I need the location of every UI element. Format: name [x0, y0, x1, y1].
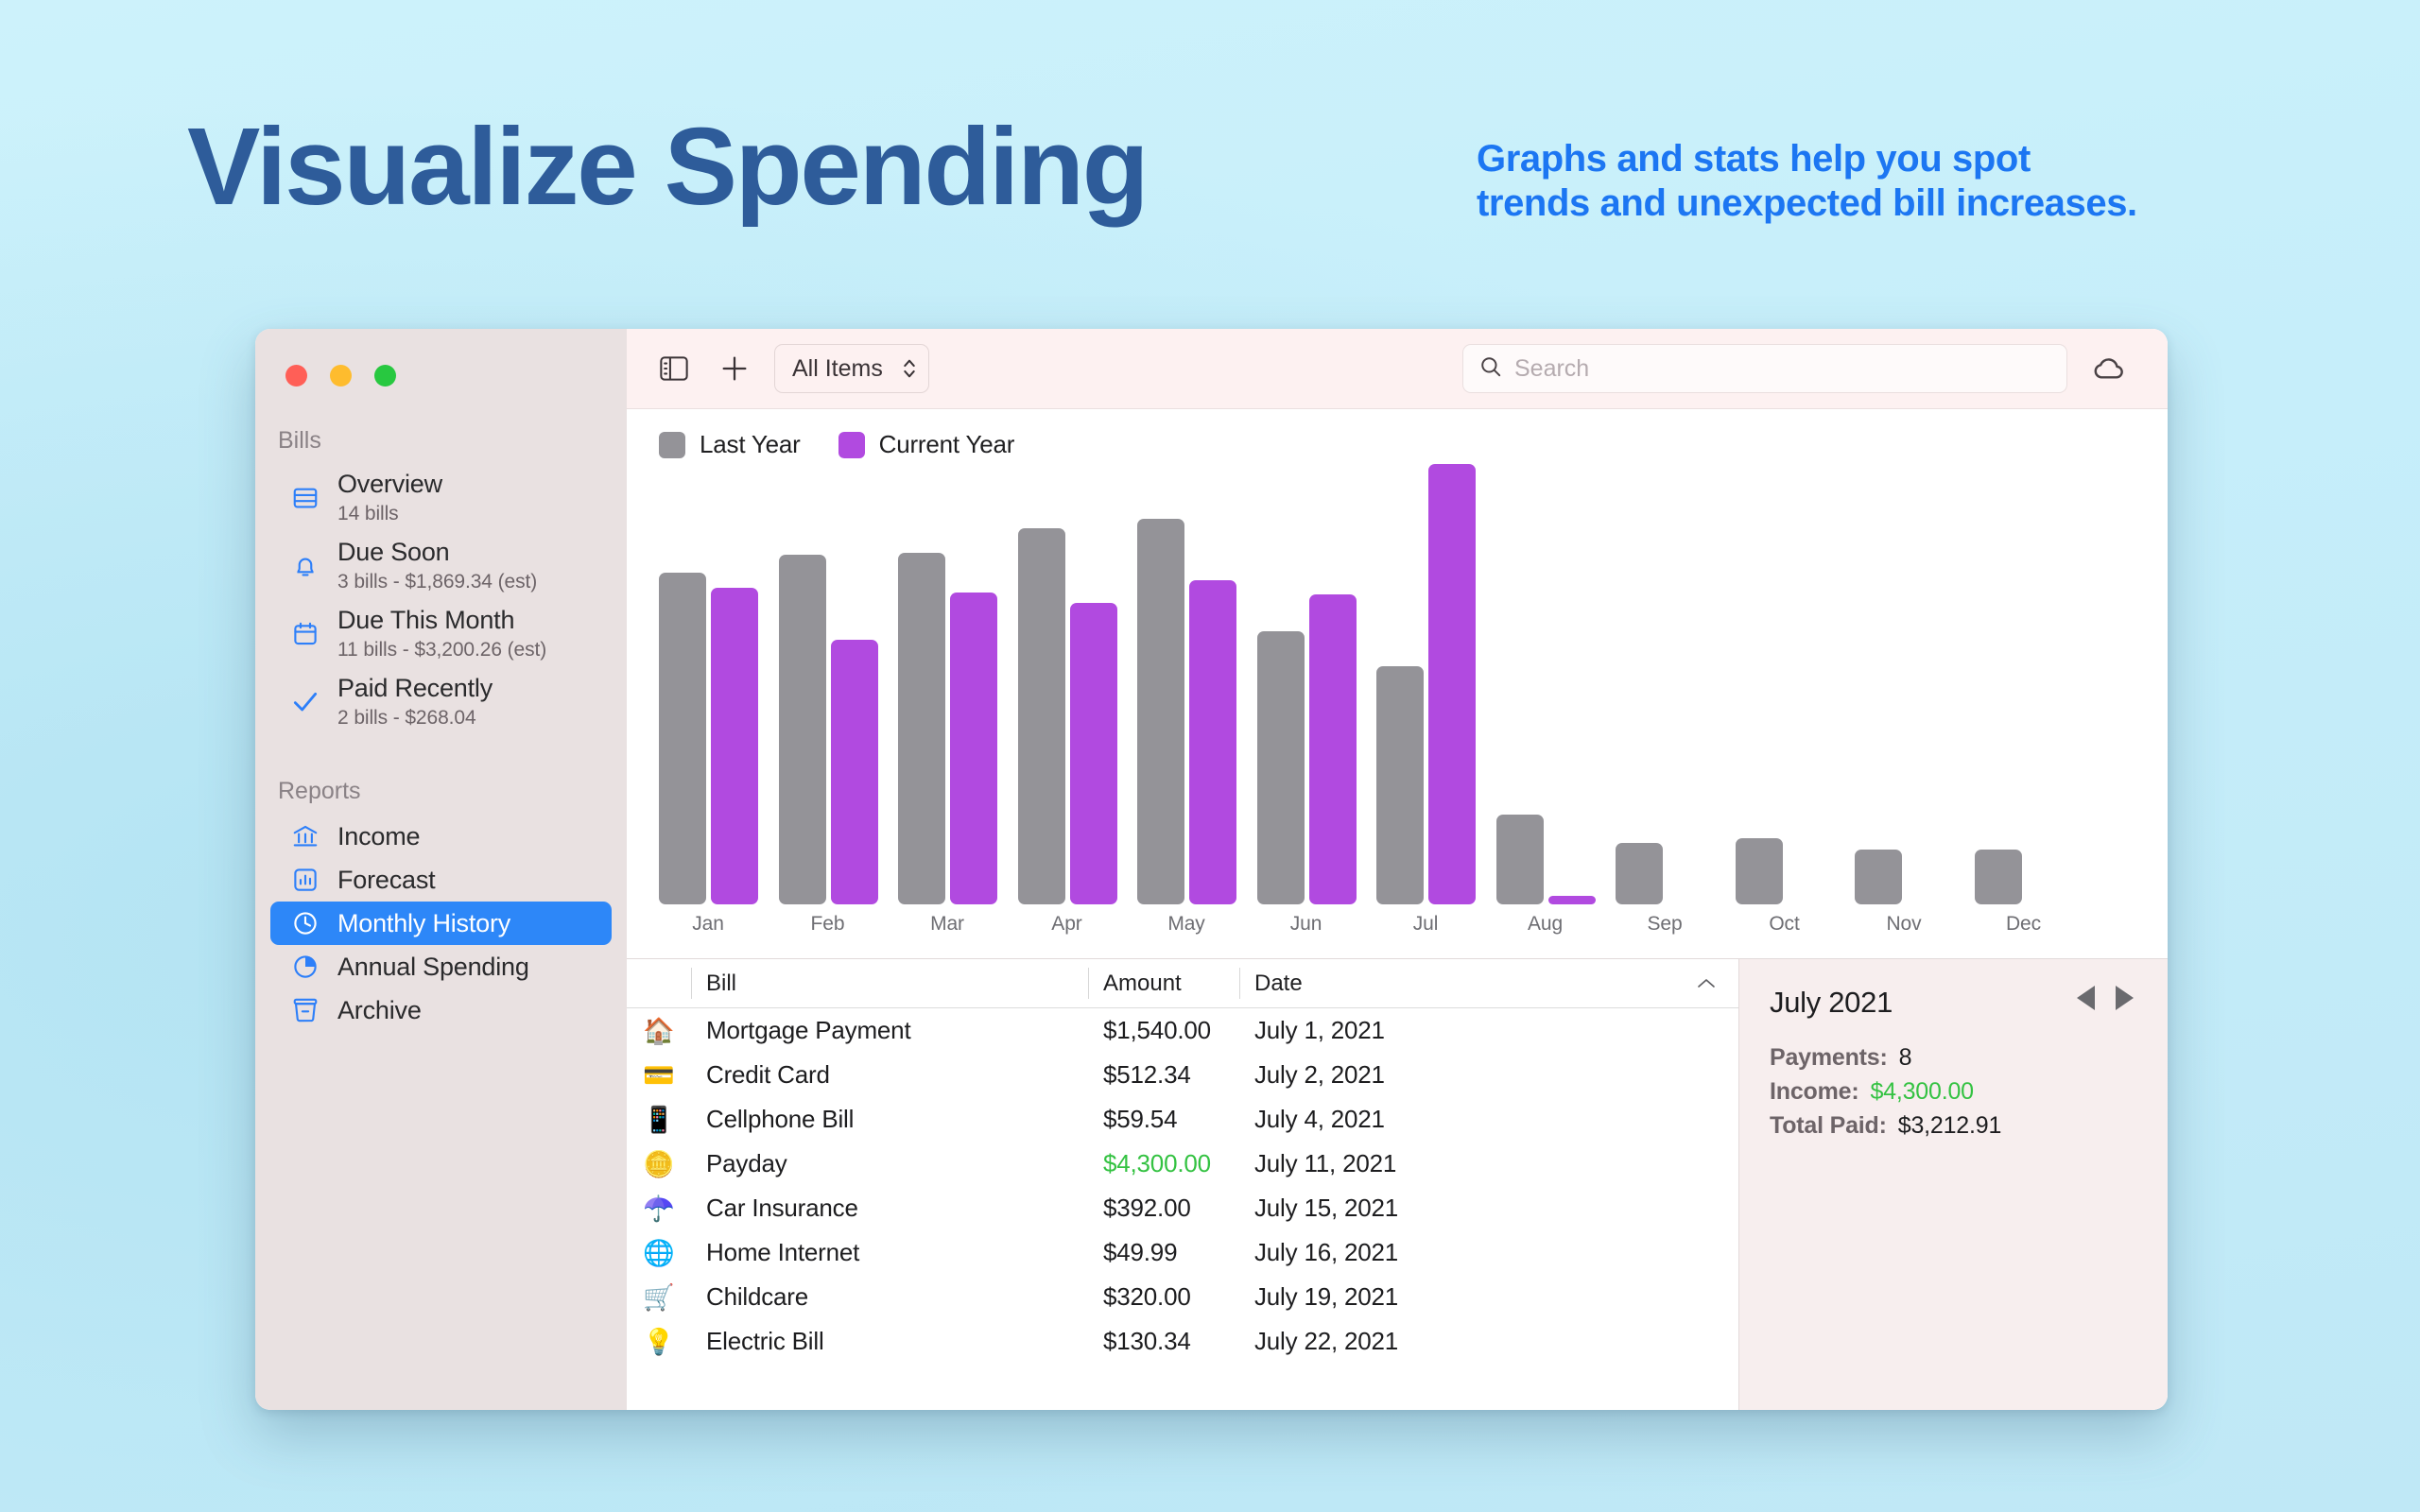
- toolbar: All Items: [627, 329, 2168, 409]
- stat-key: Income:: [1770, 1078, 1858, 1106]
- bank-icon: [289, 820, 321, 852]
- filter-dropdown[interactable]: All Items: [774, 344, 929, 393]
- main-content: All Items: [627, 329, 2168, 1410]
- search-input[interactable]: [1514, 355, 2051, 383]
- sidebar-list-bills: Overview 14 bills Due Soon 3 bills - $1,…: [255, 464, 627, 736]
- sidebar-item-overview[interactable]: Overview 14 bills: [270, 464, 612, 532]
- bar-group-sep[interactable]: [1616, 843, 1663, 904]
- x-axis-label-aug: Aug: [1494, 913, 1598, 936]
- bar-group-jul[interactable]: [1376, 464, 1476, 904]
- sidebar-item-annual-spending[interactable]: Annual Spending: [270, 945, 612, 988]
- table-row[interactable]: 🌐Home Internet$49.99July 16, 2021: [627, 1230, 1738, 1275]
- bar-group-nov[interactable]: [1855, 850, 1902, 904]
- sidebar-item-subtitle: 2 bills - $268.04: [337, 706, 493, 730]
- sidebar-item-title: Income: [337, 822, 420, 852]
- promo-tagline-line2: trends and unexpected bill increases.: [1477, 181, 2137, 226]
- table-row[interactable]: ☂️Car Insurance$392.00July 15, 2021: [627, 1186, 1738, 1230]
- chevron-updown-icon: [902, 356, 917, 381]
- sidebar-item-title: Due This Month: [337, 606, 546, 636]
- bar-feb-current-year[interactable]: [831, 640, 878, 904]
- bar-chart-icon: [289, 864, 321, 896]
- promo-header: Visualize Spending Graphs and stats help…: [0, 0, 2420, 321]
- add-item-button[interactable]: [712, 346, 757, 391]
- cell-date: July 4, 2021: [1239, 1105, 1738, 1134]
- cell-date: July 16, 2021: [1239, 1238, 1738, 1267]
- column-header-amount[interactable]: Amount: [1088, 959, 1239, 1007]
- sidebar-item-title: Monthly History: [337, 909, 510, 939]
- cell-bill-name: Electric Bill: [691, 1327, 1088, 1356]
- detail-stats: Payments:8Income:$4,300.00Total Paid:$3,…: [1770, 1044, 2139, 1140]
- archive-box-icon: [289, 994, 321, 1026]
- bar-apr-last-year[interactable]: [1018, 528, 1065, 904]
- stat-value: 8: [1899, 1044, 1912, 1072]
- list-rows-icon: [289, 482, 321, 514]
- bar-aug-last-year[interactable]: [1496, 815, 1544, 904]
- minimize-window-button[interactable]: [330, 365, 352, 387]
- credit-card-icon: 💳: [627, 1060, 691, 1091]
- bar-group-apr[interactable]: [1018, 528, 1117, 904]
- stat-row: Total Paid:$3,212.91: [1770, 1112, 2139, 1140]
- sidebar-item-due-soon[interactable]: Due Soon 3 bills - $1,869.34 (est): [270, 532, 612, 600]
- bar-group-jun[interactable]: [1257, 594, 1357, 904]
- bills-table: Bill Amount Date 🏠Mortgage Payment$1,540…: [627, 959, 1738, 1410]
- x-axis-label-may: May: [1134, 913, 1238, 936]
- cell-bill-name: Cellphone Bill: [691, 1105, 1088, 1134]
- cell-amount: $130.34: [1088, 1327, 1239, 1356]
- table-row[interactable]: 📱Cellphone Bill$59.54July 4, 2021: [627, 1097, 1738, 1142]
- stat-key: Payments:: [1770, 1044, 1888, 1072]
- window-traffic-lights: [285, 365, 396, 387]
- x-axis-label-jan: Jan: [656, 913, 760, 936]
- bar-jun-last-year[interactable]: [1257, 631, 1305, 904]
- zoom-window-button[interactable]: [374, 365, 396, 387]
- cell-amount: $4,300.00: [1088, 1149, 1239, 1178]
- x-axis-label-apr: Apr: [1015, 913, 1119, 936]
- bar-feb-last-year[interactable]: [779, 555, 826, 904]
- pie-chart-icon: [289, 951, 321, 983]
- sidebar-item-title: Forecast: [337, 866, 435, 896]
- globe-icon: 🌐: [627, 1238, 691, 1268]
- bar-mar-last-year[interactable]: [898, 553, 945, 904]
- table-header-row: Bill Amount Date: [627, 959, 1738, 1008]
- cell-amount: $1,540.00: [1088, 1016, 1239, 1045]
- search-field[interactable]: [1462, 344, 2067, 393]
- stat-value: $3,212.91: [1898, 1112, 2001, 1140]
- x-axis-label-feb: Feb: [776, 913, 880, 936]
- sidebar-item-due-this-month[interactable]: Due This Month 11 bills - $3,200.26 (est…: [270, 600, 612, 668]
- promo-tagline-line1: Graphs and stats help you spot: [1477, 137, 2137, 181]
- triangle-right-icon[interactable]: [2116, 986, 2134, 1010]
- page-title: Visualize Spending: [187, 112, 1147, 221]
- table-row[interactable]: 💡Electric Bill$130.34July 22, 2021: [627, 1319, 1738, 1364]
- bar-group-oct[interactable]: [1736, 838, 1783, 904]
- mobile-phone-icon: 📱: [627, 1105, 691, 1135]
- sidebar-item-subtitle: 3 bills - $1,869.34 (est): [337, 570, 537, 594]
- stroller-icon: 🛒: [627, 1282, 691, 1313]
- bar-nov-last-year[interactable]: [1855, 850, 1902, 904]
- cell-bill-name: Home Internet: [691, 1238, 1088, 1267]
- app-window: Bills Overview 14 bills: [255, 329, 2168, 1410]
- cell-bill-name: Credit Card: [691, 1060, 1088, 1090]
- search-icon: [1478, 354, 1503, 384]
- promo-tagline: Graphs and stats help you spot trends an…: [1477, 137, 2137, 226]
- bar-jul-current-year[interactable]: [1428, 464, 1476, 904]
- bar-group-feb[interactable]: [779, 555, 878, 904]
- bottom-split: Bill Amount Date 🏠Mortgage Payment$1,540…: [627, 959, 2168, 1410]
- sidebar-item-subtitle: 11 bills - $3,200.26 (est): [337, 638, 546, 662]
- x-axis-label-dec: Dec: [1972, 913, 2076, 936]
- sidebar-item-title: Annual Spending: [337, 953, 529, 983]
- sidebar: Bills Overview 14 bills: [255, 329, 627, 1410]
- sidebar-item-income[interactable]: Income: [270, 815, 612, 858]
- cell-amount: $320.00: [1088, 1282, 1239, 1312]
- x-axis-label-mar: Mar: [895, 913, 999, 936]
- chart-plot-area: JanFebMarAprMayJunJulAugSepOctNovDec: [627, 409, 2168, 958]
- cell-date: July 15, 2021: [1239, 1194, 1738, 1223]
- calendar-icon: [289, 618, 321, 650]
- x-axis-label-jun: Jun: [1254, 913, 1358, 936]
- month-nav: [2077, 986, 2134, 1010]
- sidebar-item-archive[interactable]: Archive: [270, 988, 612, 1032]
- stat-row: Income:$4,300.00: [1770, 1078, 2139, 1106]
- cell-date: July 2, 2021: [1239, 1060, 1738, 1090]
- cell-date: July 11, 2021: [1239, 1149, 1738, 1178]
- cell-bill-name: Payday: [691, 1149, 1088, 1178]
- monthly-history-chart: Last Year Current Year JanFebMarAprMayJu…: [627, 409, 2168, 959]
- cloud-sync-icon[interactable]: [2084, 346, 2135, 391]
- bar-group-jan[interactable]: [659, 573, 758, 904]
- bell-icon: [289, 550, 321, 582]
- stat-value: $4,300.00: [1870, 1078, 1973, 1106]
- x-axis-label-jul: Jul: [1374, 913, 1478, 936]
- sidebar-item-title: Archive: [337, 996, 422, 1026]
- sidebar-item-title: Due Soon: [337, 538, 537, 568]
- column-header-bill[interactable]: Bill: [691, 959, 1088, 1007]
- triangle-left-icon[interactable]: [2077, 986, 2095, 1010]
- coin-icon: 🪙: [627, 1149, 691, 1179]
- bar-may-last-year[interactable]: [1137, 519, 1184, 904]
- umbrella-icon: ☂️: [627, 1194, 691, 1224]
- bar-group-mar[interactable]: [898, 553, 997, 904]
- x-axis-label-nov: Nov: [1852, 913, 1956, 936]
- close-window-button[interactable]: [285, 365, 307, 387]
- house-icon: 🏠: [627, 1016, 691, 1046]
- sidebar-section-header-reports: Reports: [255, 778, 627, 805]
- sidebar-item-title: Overview: [337, 470, 442, 500]
- bar-sep-last-year[interactable]: [1616, 843, 1663, 904]
- column-header-date[interactable]: Date: [1239, 959, 1738, 1007]
- cell-amount: $59.54: [1088, 1105, 1239, 1134]
- sort-ascending-icon: [1695, 971, 1718, 996]
- cell-amount: $392.00: [1088, 1194, 1239, 1223]
- sidebar-toggle-button[interactable]: [651, 346, 697, 391]
- bar-group-aug[interactable]: [1496, 815, 1596, 904]
- cell-bill-name: Childcare: [691, 1282, 1088, 1312]
- cell-date: July 1, 2021: [1239, 1016, 1738, 1045]
- cell-bill-name: Car Insurance: [691, 1194, 1088, 1223]
- cell-date: July 19, 2021: [1239, 1282, 1738, 1312]
- bar-jun-current-year[interactable]: [1309, 594, 1357, 904]
- bar-jan-current-year[interactable]: [711, 588, 758, 904]
- month-detail-panel: July 2021 Payments:8Income:$4,300.00Tota…: [1738, 959, 2168, 1410]
- light-bulb-icon: 💡: [627, 1327, 691, 1357]
- bar-jan-last-year[interactable]: [659, 573, 706, 904]
- cell-date: July 22, 2021: [1239, 1327, 1738, 1356]
- x-axis-label-oct: Oct: [1733, 913, 1837, 936]
- bar-group-may[interactable]: [1137, 519, 1236, 904]
- x-axis-label-sep: Sep: [1613, 913, 1717, 936]
- bar-group-dec[interactable]: [1975, 850, 2022, 904]
- table-row[interactable]: 🛒Childcare$320.00July 19, 2021: [627, 1275, 1738, 1319]
- filter-dropdown-label: All Items: [792, 355, 883, 383]
- table-row[interactable]: 🪙Payday$4,300.00July 11, 2021: [627, 1142, 1738, 1186]
- table-body: 🏠Mortgage Payment$1,540.00July 1, 2021💳C…: [627, 1008, 1738, 1410]
- bar-mar-current-year[interactable]: [950, 593, 997, 904]
- sidebar-item-forecast[interactable]: Forecast: [270, 858, 612, 902]
- bar-apr-current-year[interactable]: [1070, 603, 1117, 904]
- sidebar-item-paid-recently[interactable]: Paid Recently 2 bills - $268.04: [270, 668, 612, 736]
- cell-bill-name: Mortgage Payment: [691, 1016, 1088, 1045]
- bar-may-current-year[interactable]: [1189, 580, 1236, 904]
- sidebar-item-subtitle: 14 bills: [337, 502, 442, 526]
- stat-row: Payments:8: [1770, 1044, 2139, 1072]
- cell-amount: $512.34: [1088, 1060, 1239, 1090]
- cell-amount: $49.99: [1088, 1238, 1239, 1267]
- table-row[interactable]: 💳Credit Card$512.34July 2, 2021: [627, 1053, 1738, 1097]
- bar-jul-last-year[interactable]: [1376, 666, 1424, 904]
- table-row[interactable]: 🏠Mortgage Payment$1,540.00July 1, 2021: [627, 1008, 1738, 1053]
- stat-key: Total Paid:: [1770, 1112, 1887, 1140]
- bar-dec-last-year[interactable]: [1975, 850, 2022, 904]
- bar-oct-last-year[interactable]: [1736, 838, 1783, 904]
- bar-aug-current-year[interactable]: [1548, 896, 1596, 904]
- sidebar-item-title: Paid Recently: [337, 674, 493, 704]
- clock-icon: [289, 907, 321, 939]
- sidebar-item-monthly-history[interactable]: Monthly History: [270, 902, 612, 945]
- sidebar-section-header-bills: Bills: [255, 427, 627, 455]
- checkmark-icon: [289, 686, 321, 718]
- sidebar-list-reports: Income Forecast: [255, 815, 627, 1032]
